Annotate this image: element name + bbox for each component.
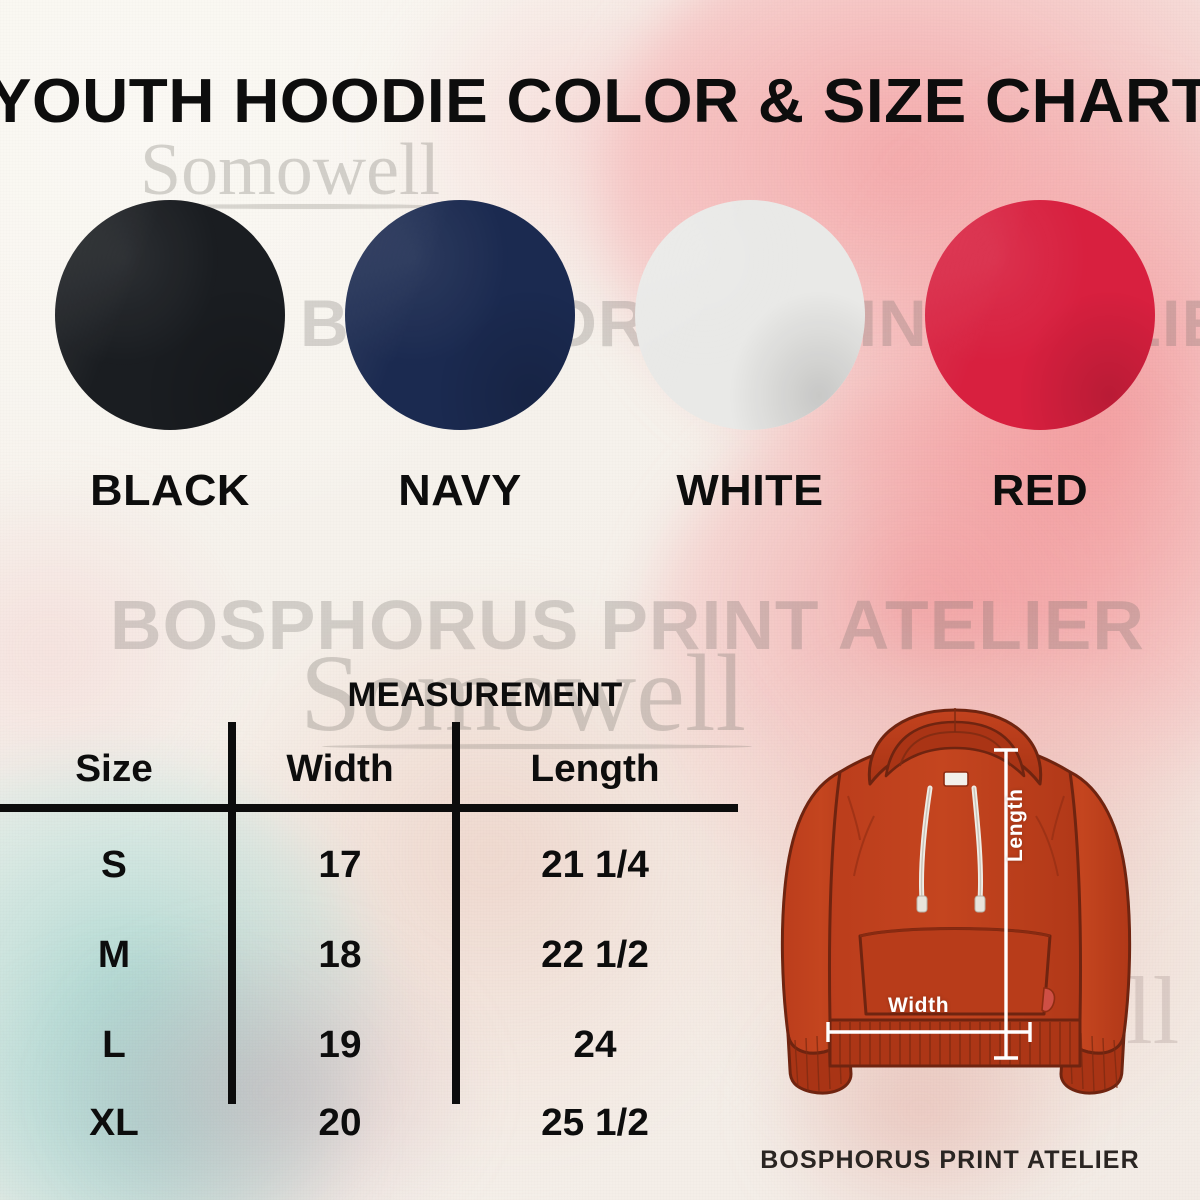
table-row: S 17 21 1/4	[0, 844, 738, 887]
swatch-red[interactable]: RED	[920, 200, 1160, 516]
swatch-dot-white	[635, 200, 865, 430]
cell-length: 25 1/2	[449, 1102, 741, 1145]
hoodie-neck-label	[944, 772, 968, 786]
measurement-title: MEASUREMENT	[227, 676, 743, 715]
swatch-dot-navy	[345, 200, 575, 430]
table-row: M 18 22 1/2	[0, 934, 738, 977]
cell-width: 17	[226, 844, 454, 887]
swatch-dot-black	[55, 200, 285, 430]
cell-width: 18	[226, 934, 454, 977]
cell-size: L	[0, 1024, 230, 1067]
cell-size: S	[0, 844, 230, 887]
color-swatch-row: BLACK NAVY WHITE RED	[50, 200, 1160, 516]
cell-size: XL	[0, 1102, 230, 1145]
page-title: YOUTH HOODIE COLOR & SIZE CHART	[0, 66, 1200, 137]
swatch-label-black: BLACK	[48, 466, 293, 516]
cell-width: 19	[226, 1024, 454, 1067]
hoodie-diagram	[748, 688, 1188, 1108]
table-row: XL 20 25 1/2	[0, 1102, 738, 1145]
swatch-black[interactable]: BLACK	[50, 200, 290, 516]
width-dimension-label: Width	[888, 994, 949, 1018]
table-header-row: Size Width Length	[0, 748, 738, 791]
cell-size: M	[0, 934, 230, 977]
column-header-size: Size	[0, 748, 230, 791]
brand-caption: BOSPHORUS PRINT ATELIER	[700, 1146, 1200, 1175]
hoodie-illustration	[748, 688, 1188, 1108]
swatch-label-white: WHITE	[628, 466, 873, 516]
hoodie-hem	[830, 1020, 1080, 1066]
swatch-navy[interactable]: NAVY	[340, 200, 580, 516]
cell-length: 21 1/4	[449, 844, 741, 887]
swatch-label-red: RED	[918, 466, 1163, 516]
table-row: L 19 24	[0, 1024, 738, 1067]
cell-width: 20	[226, 1102, 454, 1145]
column-header-width: Width	[226, 748, 454, 791]
swatch-white[interactable]: WHITE	[630, 200, 870, 516]
size-chart-canvas: Somowell BOSPHORUS PRINT ATELIER BOSPHOR…	[0, 0, 1200, 1200]
column-header-length: Length	[449, 748, 741, 791]
table-header-rule	[0, 804, 738, 812]
cell-length: 22 1/2	[449, 934, 741, 977]
length-dimension-label: Length	[1004, 788, 1028, 862]
measurement-table: Size Width Length S 17 21 1/4 M 18 22 1/…	[0, 712, 760, 1112]
swatch-label-navy: NAVY	[338, 466, 583, 516]
cell-length: 24	[449, 1024, 741, 1067]
swatch-dot-red	[925, 200, 1155, 430]
